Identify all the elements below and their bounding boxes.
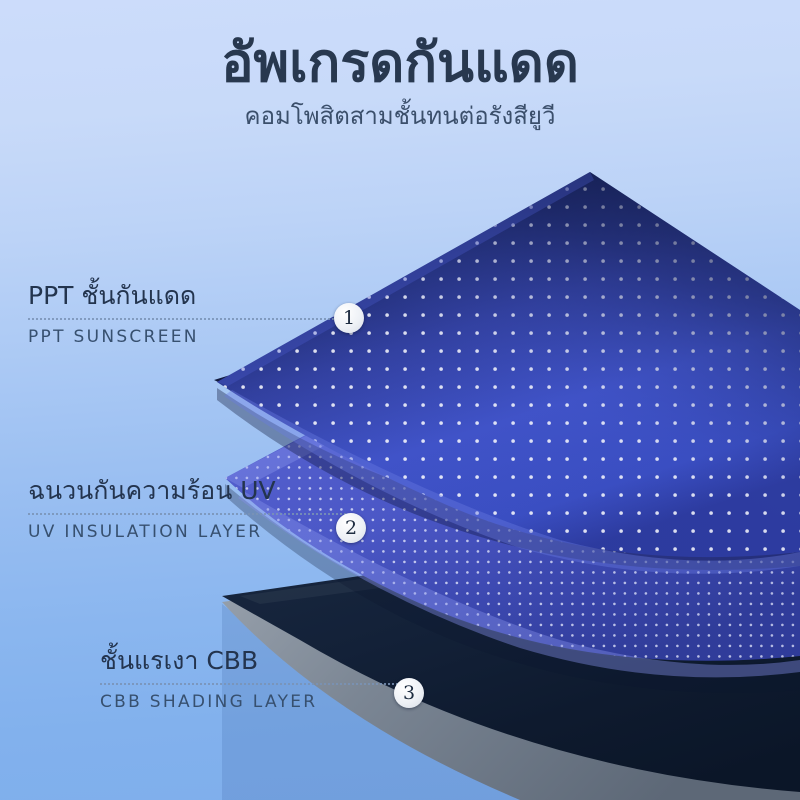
callout-layer-1: PPT ชั้นกันแดด PPT SUNSCREEN — [28, 283, 346, 347]
callout-1-leader-line — [28, 318, 346, 320]
badge-layer-2: 2 — [336, 513, 366, 543]
callout-3-label-en: CBB SHADING LAYER — [100, 685, 410, 712]
callout-3-leader-line — [100, 683, 410, 685]
callout-1-label-th: PPT ชั้นกันแดด — [28, 283, 346, 309]
page-title: อัพเกรดกันแดด — [0, 0, 800, 90]
callout-layer-2: ฉนวนกันความร้อน UV UV INSULATION LAYER — [28, 478, 346, 542]
page-subtitle: คอมโพสิตสามชั้นทนต่อรังสียูวี — [0, 90, 800, 128]
callout-layer-3: ชั้นแรเงา CBB CBB SHADING LAYER — [100, 648, 410, 712]
callout-2-label-th: ฉนวนกันความร้อน UV — [28, 478, 346, 504]
callout-2-label-en: UV INSULATION LAYER — [28, 515, 346, 542]
header: อัพเกรดกันแดด คอมโพสิตสามชั้นทนต่อรังสีย… — [0, 0, 800, 128]
badge-layer-3: 3 — [394, 678, 424, 708]
callout-3-label-th: ชั้นแรเงา CBB — [100, 648, 410, 674]
callout-1-label-en: PPT SUNSCREEN — [28, 320, 346, 347]
callout-2-leader-line — [28, 513, 346, 515]
badge-layer-1: 1 — [334, 303, 364, 333]
product-infographic: อัพเกรดกันแดด คอมโพสิตสามชั้นทนต่อรังสีย… — [0, 0, 800, 800]
